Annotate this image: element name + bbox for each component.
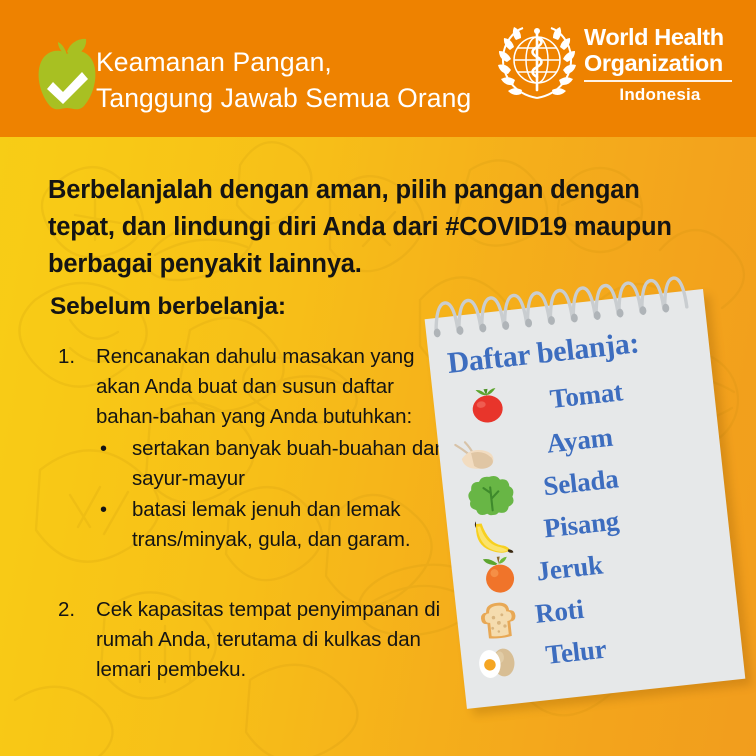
list-item-label: Roti	[533, 594, 585, 630]
who-divider	[584, 80, 732, 82]
tomato-icon	[462, 385, 512, 432]
header-bar: Keamanan Pangan, Tanggung Jawab Semua Or…	[0, 0, 756, 137]
list-item-text: Rencanakan dahulu masakan yang akan Anda…	[96, 342, 458, 432]
list-item-number: 2.	[58, 595, 96, 685]
who-country-label: Indonesia	[584, 85, 736, 105]
list-item: 1. Rencanakan dahulu masakan yang akan A…	[58, 342, 458, 555]
list-item: 2. Cek kapasitas tempat penyimpanan di r…	[58, 595, 458, 685]
bullet-dot-icon: •	[100, 434, 132, 494]
header-title: Keamanan Pangan, Tanggung Jawab Semua Or…	[96, 44, 471, 116]
bullet-dot-icon: •	[100, 495, 132, 555]
lead-paragraph: Berbelanjalah dengan aman, pilih pangan …	[48, 172, 698, 283]
apple-check-icon	[36, 38, 98, 112]
who-logo: World Health Organization Indonesia	[492, 22, 738, 116]
sub-bullet-item: • sertakan banyak buah-buahan dan sayur-…	[100, 434, 458, 494]
sub-bullet-list: • sertakan banyak buah-buahan dan sayur-…	[58, 434, 458, 555]
steps-list: 1. Rencanakan dahulu masakan yang akan A…	[58, 342, 458, 559]
list-item-label: Telur	[544, 634, 608, 671]
orange-icon	[475, 552, 525, 599]
list-item-number: 1.	[58, 342, 96, 432]
poster-canvas: Keamanan Pangan, Tanggung Jawab Semua Or…	[0, 0, 756, 756]
shopping-items-list: Tomat Ayam Selada	[441, 363, 743, 685]
sub-bullet-text: sertakan banyak buah-buahan dan sayur-ma…	[132, 434, 458, 494]
list-item-label: Selada	[542, 463, 620, 502]
who-emblem-icon	[498, 24, 576, 102]
sub-bullet-item: • batasi lemak jenuh dan lemak trans/min…	[100, 495, 458, 555]
sub-bullet-text: batasi lemak jenuh dan lemak trans/minya…	[132, 495, 458, 555]
list-item-label: Tomat	[548, 376, 624, 415]
egg-icon	[472, 639, 522, 686]
list-item-label: Jeruk	[535, 550, 604, 588]
list-item-text: Cek kapasitas tempat penyimpanan di ruma…	[96, 595, 458, 685]
shopping-list-notepad: Daftar belanja: Tomat	[423, 271, 746, 709]
list-item-label: Pisang	[542, 506, 620, 545]
who-wordmark: World Health Organization	[584, 25, 736, 76]
list-item-label: Ayam	[545, 422, 614, 460]
section-subheading: Sebelum berbelanja:	[50, 293, 286, 321]
